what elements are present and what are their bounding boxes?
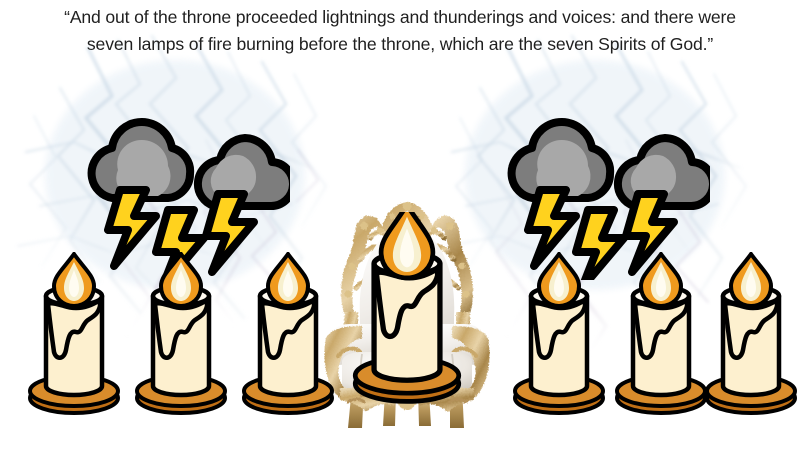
candle-flame bbox=[731, 254, 771, 306]
candle-flame bbox=[54, 254, 94, 306]
candle-flame bbox=[539, 254, 579, 306]
candle-flame bbox=[381, 212, 433, 278]
candle-3 bbox=[238, 252, 338, 422]
candle-1 bbox=[24, 252, 124, 422]
candle-7 bbox=[701, 252, 800, 422]
candle-2 bbox=[131, 252, 231, 422]
candle-5 bbox=[509, 252, 609, 422]
candle-flame bbox=[161, 254, 201, 306]
candle-4 bbox=[347, 212, 467, 412]
scripture-caption: “And out of the throne proceeded lightni… bbox=[40, 4, 760, 58]
candle-6 bbox=[611, 252, 711, 422]
slide-canvas: “And out of the throne proceeded lightni… bbox=[0, 0, 800, 450]
candle-flame bbox=[641, 254, 681, 306]
candle-flame bbox=[268, 254, 308, 306]
